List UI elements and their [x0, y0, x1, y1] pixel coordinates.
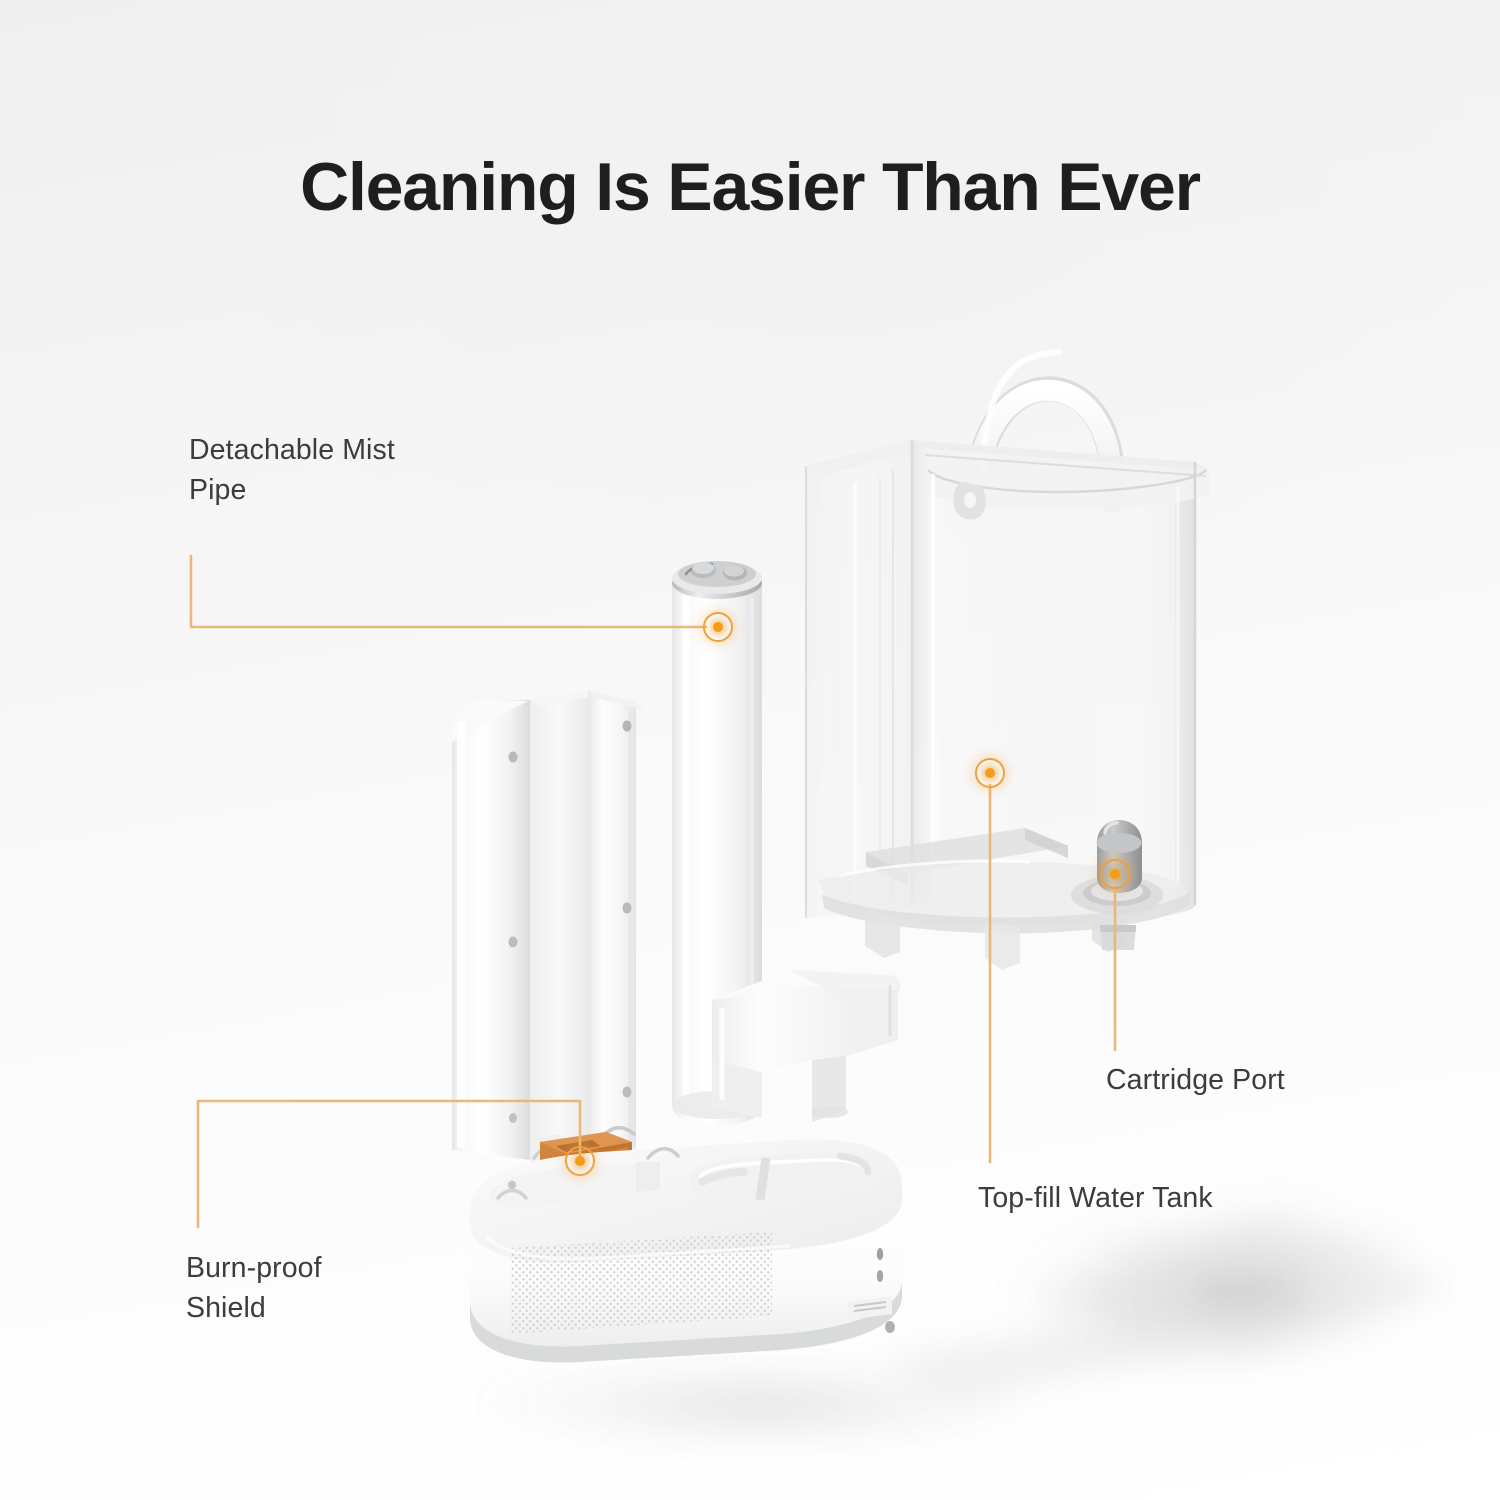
- marker-detachable-mist-pipe[interactable]: [703, 612, 733, 642]
- marker-top-fill-water-tank[interactable]: [975, 758, 1005, 788]
- callout-label-cartridge-port: Cartridge Port: [1106, 1060, 1285, 1100]
- page-title: Cleaning Is Easier Than Ever: [0, 152, 1500, 223]
- marker-dot-icon: [713, 622, 723, 632]
- infographic-canvas: Cleaning Is Easier Than Ever Detachable …: [0, 0, 1500, 1500]
- leader-mist-pipe: [191, 556, 706, 627]
- callout-label-top-fill-water-tank: Top-fill Water Tank: [978, 1178, 1213, 1218]
- marker-burn-proof-shield[interactable]: [565, 1146, 595, 1176]
- marker-dot-icon: [1110, 869, 1120, 879]
- marker-dot-icon: [985, 768, 995, 778]
- marker-dot-icon: [575, 1156, 585, 1166]
- leader-burn-proof: [198, 1101, 580, 1227]
- callout-label-burn-proof-shield: Burn-proof Shield: [186, 1248, 322, 1329]
- marker-cartridge-port[interactable]: [1100, 859, 1130, 889]
- callout-label-detachable-mist-pipe: Detachable Mist Pipe: [189, 430, 395, 511]
